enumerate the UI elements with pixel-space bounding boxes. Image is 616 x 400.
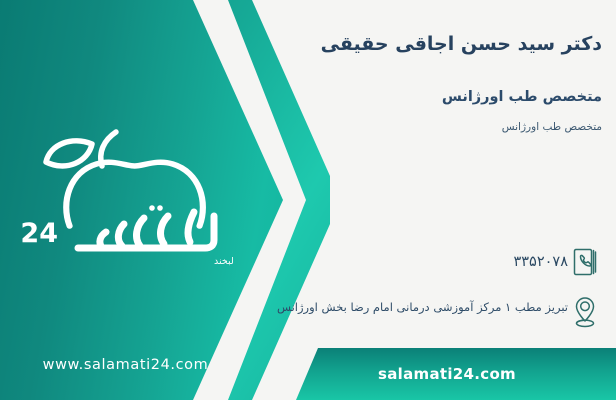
location-pin-icon (568, 293, 602, 331)
footer-website: salamati24.com (378, 365, 534, 383)
footer-bar[interactable]: salamati24.com (296, 348, 616, 400)
logo-wordmark (78, 205, 214, 248)
doctor-profile-card: 24 براحتی یک لبخند www.salamati24.com دک… (0, 0, 616, 400)
contact-address-text: تبریز مطب ۱ مرکز آموزشی درمانی امام رضا … (242, 293, 568, 317)
logo-tagline: براحتی یک لبخند (214, 256, 233, 267)
logo-badge-text: 24 (20, 218, 58, 249)
contact-row-address[interactable]: تبریز مطب ۱ مرکز آموزشی درمانی امام رضا … (242, 293, 602, 331)
contact-list: ۳۳۵۲۰۷۸ تبریز مطب ۱ مرکز آموزشی درمانی ا… (242, 243, 602, 343)
logo-badge-24: 24 (20, 218, 58, 249)
phone-book-icon (568, 243, 602, 281)
doctor-info-block: دکتر سید حسن اجاقی حقیقی متخصص طب اورژان… (252, 30, 602, 133)
apple-outline-icon: 24 براحتی یک لبخند (18, 112, 233, 272)
contact-phone-number: ۳۳۵۲۰۷۸ (242, 243, 568, 273)
doctor-name: دکتر سید حسن اجاقی حقیقی (252, 30, 602, 59)
contact-row-phone[interactable]: ۳۳۵۲۰۷۸ (242, 243, 602, 281)
logo-website-url: www.salamati24.com (18, 357, 233, 373)
doctor-specialty-primary: متخصص طب اورژانس (252, 89, 602, 105)
doctor-specialty-secondary: متخصص طب اورژانس (252, 121, 602, 133)
brand-logo: 24 براحتی یک لبخند www.salamati24.com (18, 112, 233, 272)
